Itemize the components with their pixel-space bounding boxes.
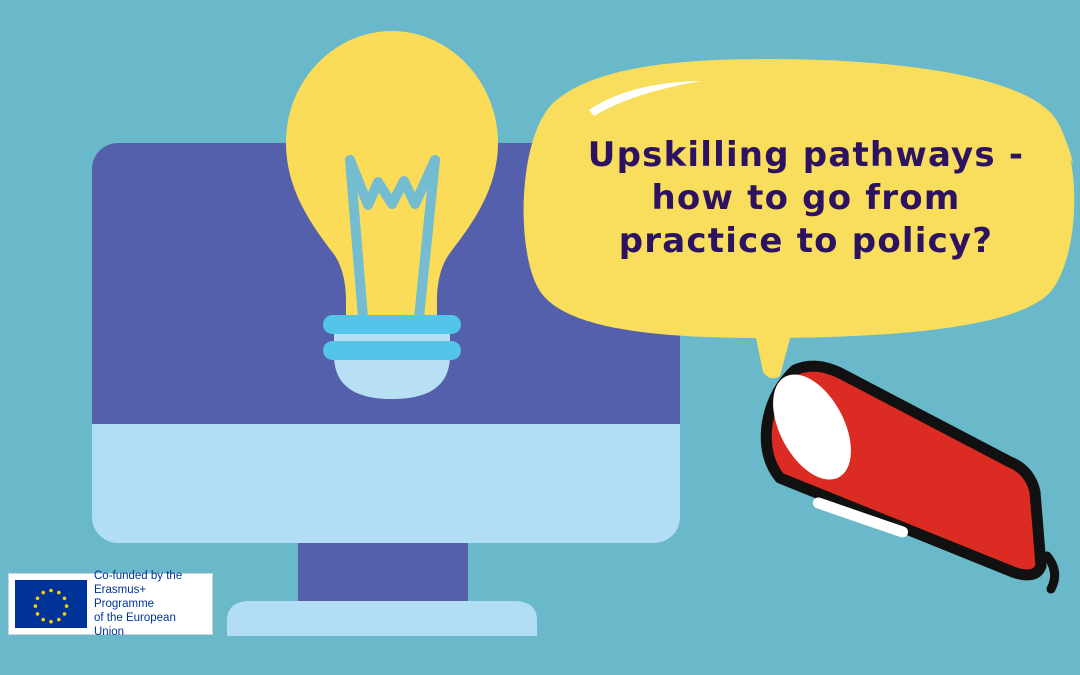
eu-funding-text: Co-funded by the Erasmus+ Programme of t… [94,569,206,639]
monitor-lower-panel [92,424,680,543]
eu-funding-logo: Co-funded by the Erasmus+ Programme of t… [8,573,213,635]
monitor-base [227,601,537,636]
monitor-neck [298,538,468,606]
poster-canvas: Upskilling pathways - how to go from pra… [0,0,1080,675]
bulb-base-ring-upper [323,315,461,334]
bulb-base-ring-lower [323,341,461,360]
eu-flag-icon [15,580,87,628]
page-title: Upskilling pathways - how to go from pra… [566,134,1046,263]
